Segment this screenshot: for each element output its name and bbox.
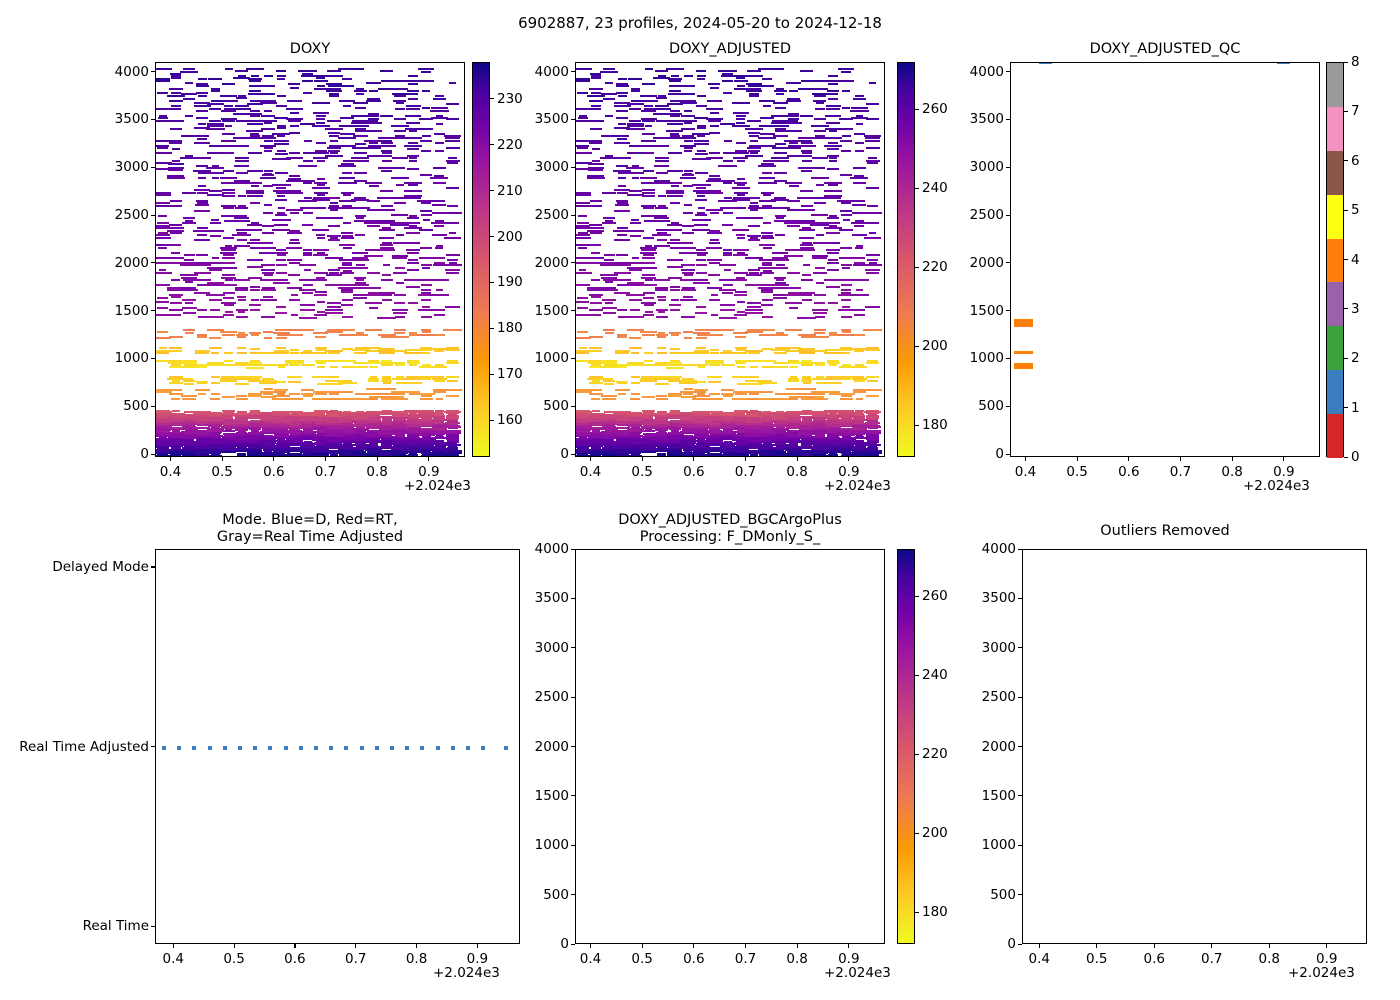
panel-doxy-profile-mark — [355, 107, 366, 109]
panel-doxy-profile-mark — [366, 411, 380, 413]
panel-doxy-profile-mark — [171, 92, 180, 94]
panel-doxy-axes[interactable] — [155, 62, 465, 457]
panel-doxy-profile-mark — [168, 167, 184, 169]
panel-doxy-adjusted-profile-mark — [746, 274, 762, 276]
panel-doxy-adjusted-profile-mark — [575, 152, 592, 154]
panel-doxy-profile-mark — [328, 207, 340, 209]
panel-doxy-profile-mark — [434, 350, 444, 352]
panel-doxy-adjusted-profile-mark — [684, 274, 693, 276]
panel-doxy-profile-mark — [365, 329, 382, 331]
mode-marker — [420, 746, 424, 750]
panel-doxy-adjusted-profile-mark — [733, 157, 748, 159]
panel-doxy-adjusted-axes[interactable] — [575, 62, 885, 457]
panel-doxy-profile-mark — [367, 225, 381, 227]
panel-doxy-adjusted-profile-mark — [658, 332, 665, 334]
panel-doxy-adjusted-profile-mark — [641, 205, 656, 207]
panel-doxy-adjusted-profile-mark — [842, 90, 850, 92]
panel-doxy-profile-mark — [235, 287, 248, 289]
panel-doxy-adjusted-profile-mark — [824, 145, 841, 147]
panel-doxy-adjusted-profile-mark — [601, 360, 616, 362]
panel-doxy-adjusted-profile-mark — [798, 388, 816, 390]
panel-doxy-adjusted-profile-mark — [617, 234, 627, 236]
panel-doxy-adjusted-profile-mark — [617, 138, 627, 140]
panel-doxy-profile-mark — [194, 189, 210, 191]
panel-doxy-adjusted-profile-mark — [747, 302, 760, 304]
panel-doxy-adjusted-profile-mark — [854, 200, 864, 202]
panel-outliers-removed-ytick-label: 2000 — [974, 739, 1016, 755]
panel-doxy-adjusted-profile-mark — [866, 410, 879, 414]
panel-doxy-adjusted-profile-mark — [837, 376, 855, 378]
panel-doxy-adjusted-profile-mark — [615, 352, 629, 354]
panel-doxy-ytick-label: 1500 — [107, 303, 149, 319]
panel-doxy-profile-mark — [353, 267, 367, 269]
panel-doxy-adjusted-profile-mark — [773, 297, 787, 299]
panel-doxy-profile-mark — [197, 411, 208, 413]
panel-doxy-adjusted-profile-mark — [811, 177, 829, 179]
panel-doxy-profile-mark — [325, 312, 343, 314]
panel-doxy-adjusted-profile-mark — [684, 337, 692, 339]
panel-doxy-adjusted-profile-mark — [657, 352, 667, 354]
panel-doxy-adjusted-profile-mark — [681, 316, 695, 318]
panel-doxy-adjusted-profile-mark — [658, 195, 666, 197]
panel-doxy-cbtick-label: 230 — [497, 91, 523, 107]
panel-doxy-profile-mark — [288, 83, 300, 85]
panel-doxy-adjusted-profile-mark — [601, 277, 616, 279]
panel-doxy-adjusted-profile-mark — [641, 302, 656, 304]
panel-doxy-adjusted-profile-mark — [737, 252, 745, 254]
panel-doxy-profile-mark — [313, 254, 328, 256]
panel-doxy-adjusted-profile-mark — [670, 378, 681, 380]
panel-doxy-adjusted-qc-ytick-label: 3500 — [962, 111, 1004, 127]
panel-doxy-profile-mark — [355, 215, 366, 217]
panel-doxy-adjusted-xtick-mark — [848, 457, 849, 461]
panel-doxy-profile-mark — [250, 247, 260, 249]
panel-doxy-adjusted-profile-mark — [575, 194, 591, 196]
panel-doxy-adjusted-ytick-label: 1000 — [527, 350, 569, 366]
panel-doxy-adjusted-profile-mark — [789, 307, 799, 309]
panel-doxy-profile-mark — [221, 215, 236, 217]
panel-doxy-adjusted-profile-mark — [605, 220, 613, 222]
panel-doxy-profile-mark — [249, 304, 262, 306]
panel-doxy-profile-mark — [206, 128, 224, 130]
qc-missing-region — [1304, 62, 1317, 68]
panel-doxy-adjusted-profile-mark — [684, 75, 693, 77]
panel-doxy-profile-mark — [262, 174, 274, 176]
panel-outliers-removed-ytick-mark — [1018, 598, 1022, 599]
qc-colorbar-tick-label: 2 — [1351, 350, 1360, 366]
panel-doxy-adjusted-profile-mark — [604, 254, 615, 256]
panel-doxy-profile-mark — [225, 125, 233, 127]
panel-doxy-adjusted-profile-mark — [640, 252, 657, 254]
qc-flag-4-region — [1014, 351, 1033, 354]
panel-doxy-profile-mark — [330, 209, 339, 211]
panel-doxy-adjusted-profile-mark — [812, 255, 828, 257]
panel-doxy-profile-mark — [264, 110, 272, 112]
panel-doxy-adjusted-profile-mark — [696, 306, 706, 308]
panel-doxy-profile-mark — [381, 155, 392, 157]
panel-doxy-profile-mark — [302, 80, 313, 82]
panel-doxy-profile-mark — [301, 393, 314, 395]
panel-doxy-profile-mark — [378, 388, 396, 390]
panel-doxy-adjusted-profile-mark — [576, 352, 589, 354]
panel-doxy-profile-mark — [328, 352, 339, 354]
panel-doxy-profile-mark — [181, 277, 196, 279]
panel-doxy-profile-mark — [409, 215, 416, 217]
panel-doxy-profile-mark — [432, 378, 448, 380]
panel-doxy-adjusted-profile-mark — [680, 299, 697, 301]
panel-doxy-adjusted-profile-mark — [774, 451, 786, 453]
panel-doxy-adjusted-profile-mark — [724, 269, 732, 271]
panel-doxy-profile-mark — [433, 257, 445, 259]
panel-doxy-adjusted-profile-mark — [816, 382, 824, 384]
panel-doxy-profile-mark — [260, 100, 276, 102]
panel-doxy-adjusted-profile-mark — [692, 219, 711, 221]
panel-doxy-profile-mark — [430, 110, 449, 112]
panel-doxy-profile-mark — [327, 147, 342, 149]
panel-doxy-adjusted-profile-mark — [812, 309, 828, 311]
panel-doxy-adjusted-profile-mark — [667, 259, 684, 261]
panel-doxy-adjusted-profile-mark — [604, 259, 613, 261]
panel-doxy-profile-mark — [223, 433, 235, 435]
panel-doxy-adjusted-profile-mark — [854, 380, 865, 382]
panel-doxy-adjusted-profile-mark — [705, 362, 724, 364]
panel-doxy-xtick-label: 0.5 — [211, 464, 232, 480]
panel-doxy-adjusted-profile-mark — [627, 230, 644, 232]
panel-doxy-adjusted-profile-mark — [642, 430, 655, 432]
panel-doxy-adjusted-colorbar[interactable] — [897, 62, 915, 457]
panel-doxy-adjusted-profile-mark — [707, 376, 722, 378]
panel-doxy-profile-mark — [354, 352, 367, 354]
panel-mode-axes[interactable] — [155, 549, 520, 944]
panel-doxy-profile-mark — [182, 307, 197, 309]
panel-doxy-profile-mark — [303, 152, 313, 154]
panel-doxy-profile-mark — [210, 309, 220, 311]
panel-doxy-profile-mark — [380, 247, 394, 249]
panel-doxy-adjusted-profile-mark — [628, 78, 642, 80]
panel-doxy-profile-mark — [196, 110, 208, 112]
panel-doxy-adjusted-profile-mark — [590, 108, 601, 110]
panel-doxy-profile-mark — [159, 269, 167, 271]
panel-doxy-adjusted-profile-mark — [670, 202, 680, 204]
mode-marker — [238, 746, 242, 750]
panel-doxy-adjusted-profile-mark — [786, 411, 800, 413]
panel-doxy-profile-mark — [183, 98, 195, 100]
panel-doxy-profile-mark — [157, 222, 169, 224]
panel-doxy-profile-mark — [423, 219, 430, 221]
panel-doxy-profile-mark — [325, 331, 343, 333]
panel-doxy-profile-mark — [420, 398, 433, 400]
panel-doxy-profile-mark — [235, 160, 249, 162]
panel-doxy-adjusted-profile-mark — [654, 217, 669, 219]
panel-doxy-profile-mark — [299, 317, 317, 319]
panel-doxy-adjusted-profile-mark — [670, 420, 681, 422]
panel-doxy-profile-mark — [249, 90, 260, 92]
panel-doxy-adjusted-ytick-label: 1500 — [527, 303, 569, 319]
panel-doxy-profile-mark — [221, 249, 236, 251]
panel-doxy-profile-mark — [421, 150, 431, 152]
panel-doxy-profile-mark — [443, 329, 461, 331]
panel-doxy-profile-mark — [155, 234, 170, 236]
panel-doxy-adjusted-profile-mark — [799, 352, 815, 354]
panel-doxy-adjusted-profile-mark — [710, 349, 719, 351]
panel-doxy-profile-mark — [238, 95, 246, 97]
panel-doxy-profile-mark — [328, 225, 341, 227]
panel-doxy-profile-mark — [434, 262, 445, 264]
panel-doxy-colorbar[interactable] — [472, 62, 490, 457]
panel-doxy-adjusted-profile-mark — [696, 249, 706, 251]
panel-doxy-profile-mark — [406, 108, 419, 110]
panel-doxy-adjusted-profile-mark — [737, 160, 745, 162]
panel-doxy-adjusted-profile-mark — [721, 364, 735, 366]
panel-doxy-profile-mark — [184, 254, 195, 256]
panel-outliers-removed-xtick-mark — [1039, 944, 1040, 948]
panel-doxy-profile-mark — [185, 302, 193, 304]
panel-doxy-adjusted-profile-mark — [722, 80, 733, 82]
panel-doxy-profile-mark — [291, 294, 298, 296]
panel-outliers-removed-ytick-mark — [1018, 944, 1022, 945]
panel-doxy-adjusted-profile-mark — [671, 299, 679, 301]
panel-doxy-profile-mark — [170, 302, 183, 304]
panel-doxy-adjusted-profile-mark — [656, 309, 668, 311]
panel-doxy-adjusted-profile-mark — [789, 443, 797, 447]
panel-doxy-profile-mark — [339, 329, 355, 331]
panel-doxy-adjusted-profile-mark — [617, 336, 627, 338]
panel-doxy-adjusted-profile-mark — [642, 133, 656, 135]
panel-doxy-profile-mark — [194, 272, 211, 274]
panel-doxy-adjusted-qc-xtick-mark — [1025, 457, 1026, 461]
panel-doxy-adjusted-qc-colorbar[interactable] — [1326, 62, 1344, 457]
panel-doxy-adjusted-profile-mark — [773, 102, 788, 104]
panel-bgcargoplus-colorbar[interactable] — [897, 549, 915, 944]
panel-doxy-profile-mark — [327, 235, 342, 237]
panel-doxy-profile-mark — [432, 204, 446, 206]
panel-bgcargoplus-ytick-mark — [571, 944, 575, 945]
panel-doxy-adjusted-profile-mark — [643, 207, 654, 209]
panel-doxy-profile-mark — [393, 242, 407, 244]
panel-doxy-ytick-label: 2500 — [107, 207, 149, 223]
panel-doxy-ytick-label: 2000 — [107, 255, 149, 271]
panel-doxy-adjusted-profile-mark — [718, 70, 736, 72]
panel-doxy-adjusted-profile-mark — [736, 115, 746, 117]
panel-doxy-profile-mark — [447, 162, 457, 164]
panel-doxy-adjusted-profile-mark — [696, 381, 706, 383]
panel-doxy-adjusted-profile-mark — [838, 80, 854, 82]
panel-doxy-profile-mark — [194, 142, 210, 144]
panel-doxy-profile-mark — [394, 302, 405, 304]
panel-doxy-adjusted-profile-mark — [614, 292, 630, 294]
panel-outliers-removed-ytick-mark — [1018, 894, 1022, 895]
panel-doxy-adjusted-profile-mark — [813, 222, 827, 224]
panel-doxy-adjusted-profile-mark — [867, 205, 877, 207]
panel-doxy-profile-mark — [169, 347, 182, 349]
panel-doxy-adjusted-profile-mark — [787, 98, 800, 100]
panel-doxy-profile-mark — [330, 202, 338, 204]
panel-doxy-profile-mark — [234, 245, 250, 247]
panel-doxy-profile-mark — [351, 157, 369, 159]
panel-doxy-profile-mark — [274, 350, 289, 352]
panel-doxy-profile-mark — [368, 360, 379, 362]
panel-doxy-profile-mark — [222, 430, 235, 432]
panel-doxy-adjusted-profile-mark — [613, 279, 631, 281]
panel-doxy-profile-mark — [365, 302, 383, 304]
panel-bgcargoplus-xtick-label: 0.7 — [735, 951, 756, 967]
panel-doxy-adjusted-profile-mark — [841, 395, 852, 397]
panel-doxy-cbtick-mark — [490, 236, 494, 237]
panel-doxy-adjusted-profile-mark — [735, 352, 747, 354]
panel-doxy-xtick-mark — [170, 457, 171, 461]
panel-doxy-adjusted-profile-mark — [826, 286, 840, 288]
panel-doxy-profile-mark — [250, 348, 259, 350]
panel-doxy-profile-mark — [369, 185, 379, 187]
panel-doxy-profile-mark — [408, 98, 418, 100]
panel-doxy-profile-mark — [168, 120, 185, 122]
panel-doxy-adjusted-profile-mark — [746, 90, 761, 92]
panel-doxy-profile-mark — [330, 410, 338, 412]
panel-outliers-removed-ytick-label: 3000 — [974, 640, 1016, 656]
panel-doxy-adjusted-profile-mark — [837, 334, 855, 336]
panel-doxy-adjusted-profile-mark — [829, 160, 838, 162]
panel-doxy-adjusted-profile-mark — [824, 227, 841, 229]
panel-doxy-profile-mark — [194, 105, 211, 107]
panel-doxy-profile-mark — [353, 362, 367, 364]
panel-doxy-adjusted-profile-mark — [838, 68, 854, 70]
panel-doxy-adjusted-profile-mark — [837, 393, 855, 395]
panel-mode-ytick-mark — [151, 926, 155, 927]
panel-doxy-profile-mark — [313, 112, 329, 114]
panel-doxy-profile-mark — [155, 152, 172, 154]
panel-doxy-adjusted-profile-mark — [683, 331, 692, 333]
panel-doxy-profile-mark — [251, 222, 259, 224]
panel-doxy-adjusted-profile-mark — [589, 142, 602, 144]
panel-doxy-adjusted-profile-mark — [772, 398, 789, 400]
panel-doxy-ytick-mark — [151, 71, 155, 72]
panel-doxy-adjusted-profile-mark — [827, 217, 839, 219]
panel-doxy-adjusted-profile-mark — [656, 97, 667, 99]
panel-doxy-adjusted-ytick-mark — [571, 167, 575, 168]
panel-doxy-adjusted-qc-ytick-mark — [1006, 358, 1010, 359]
panel-doxy-profile-mark — [211, 219, 219, 221]
panel-doxy-profile-mark — [314, 410, 328, 412]
panel-doxy-profile-mark — [260, 145, 277, 147]
panel-doxy-adjusted-profile-mark — [656, 395, 667, 397]
panel-doxy-adjusted-profile-mark — [762, 366, 772, 368]
panel-doxy-adjusted-profile-mark — [854, 133, 865, 135]
panel-doxy-adjusted-profile-mark — [697, 127, 706, 129]
panel-doxy-profile-mark — [262, 272, 274, 274]
panel-doxy-profile-mark — [272, 219, 291, 221]
panel-doxy-profile-mark — [316, 234, 325, 236]
panel-doxy-profile-mark — [263, 296, 273, 298]
panel-doxy-profile-mark — [209, 299, 223, 301]
panel-doxy-adjusted-profile-mark — [670, 239, 679, 241]
panel-doxy-adjusted-profile-mark — [868, 157, 878, 159]
panel-doxy-cbtick-mark — [490, 328, 494, 329]
panel-doxy-profile-mark — [435, 247, 443, 249]
panel-doxy-profile-mark — [326, 274, 342, 276]
panel-doxy-adjusted-profile-mark — [747, 88, 761, 90]
panel-doxy-adjusted-qc-ytick-mark — [1006, 310, 1010, 311]
panel-doxy-adjusted-ytick-mark — [571, 358, 575, 359]
panel-doxy-profile-mark — [195, 352, 209, 354]
panel-doxy-adjusted-profile-mark — [824, 195, 841, 197]
panel-doxy-profile-mark — [303, 212, 313, 214]
panel-doxy-adjusted-profile-mark — [826, 222, 839, 224]
panel-doxy-adjusted-profile-mark — [642, 189, 654, 191]
panel-doxy-adjusted-profile-mark — [680, 177, 696, 179]
panel-doxy-profile-mark — [328, 269, 339, 271]
panel-doxy-adjusted-profile-mark — [628, 262, 642, 264]
panel-doxy-profile-mark — [236, 419, 248, 421]
panel-doxy-profile-mark — [264, 147, 273, 149]
panel-doxy-ytick-label: 3000 — [107, 159, 149, 175]
panel-doxy-profile-mark — [343, 105, 351, 107]
panel-doxy-adjusted-profile-mark — [588, 163, 604, 165]
panel-doxy-profile-mark — [156, 225, 170, 227]
panel-doxy-adjusted-profile-mark — [724, 140, 732, 142]
panel-doxy-adjusted-profile-mark — [639, 100, 658, 102]
panel-doxy-adjusted-profile-mark — [816, 234, 823, 236]
panel-doxy-adjusted-profile-mark — [643, 314, 655, 316]
panel-doxy-adjusted-profile-mark — [591, 77, 601, 79]
panel-doxy-adjusted-profile-mark — [679, 380, 697, 382]
panel-doxy-adjusted-profile-mark — [656, 316, 668, 318]
panel-doxy-adjusted-profile-mark — [841, 329, 851, 331]
panel-doxy-adjusted-profile-mark — [591, 296, 602, 298]
panel-doxy-profile-mark — [421, 214, 432, 216]
panel-doxy-profile-mark — [185, 220, 193, 222]
panel-doxy-adjusted-profile-mark — [680, 247, 696, 249]
panel-doxy-adjusted-profile-mark — [694, 364, 708, 366]
panel-doxy-adjusted-profile-mark — [618, 316, 626, 318]
panel-bgcargoplus-cbtick-label: 200 — [922, 825, 948, 841]
panel-outliers-removed-axes[interactable] — [1022, 549, 1367, 944]
panel-doxy-profile-mark — [195, 262, 210, 264]
panel-doxy-profile-mark — [273, 332, 290, 334]
panel-doxy-profile-mark — [408, 142, 417, 144]
panel-doxy-adjusted-profile-mark — [841, 150, 851, 152]
panel-doxy-profile-mark — [237, 336, 246, 338]
panel-doxy-adjusted-profile-mark — [708, 411, 720, 413]
panel-doxy-adjusted-profile-mark — [604, 383, 614, 385]
panel-doxy-adjusted-profile-mark — [825, 115, 841, 117]
panel-doxy-adjusted-profile-mark — [745, 312, 763, 314]
panel-doxy-adjusted-qc-ytick-label: 3000 — [962, 159, 1004, 175]
panel-doxy-profile-mark — [304, 441, 312, 443]
panel-doxy-adjusted-profile-mark — [627, 103, 643, 105]
panel-doxy-adjusted-profile-mark — [772, 259, 789, 261]
panel-doxy-profile-mark — [259, 380, 277, 382]
panel-doxy-profile-mark — [300, 309, 315, 311]
panel-bgcargoplus-axes[interactable] — [575, 549, 885, 944]
panel-doxy-profile-mark — [303, 252, 311, 254]
panel-doxy-profile-mark — [264, 274, 273, 276]
panel-doxy-adjusted-profile-mark — [618, 185, 626, 187]
panel-doxy-profile-mark — [378, 292, 395, 294]
panel-doxy-profile-mark — [157, 147, 168, 149]
panel-doxy-profile-mark — [222, 120, 234, 122]
panel-doxy-adjusted-profile-mark — [816, 102, 824, 104]
panel-doxy-profile-mark — [289, 393, 300, 395]
panel-doxy-adjusted-profile-mark — [737, 383, 745, 385]
panel-doxy-adjusted-profile-mark — [840, 347, 852, 349]
panel-doxy-adjusted-qc-ytick-label: 1000 — [962, 350, 1004, 366]
panel-doxy-profile-mark — [449, 232, 457, 234]
panel-doxy-profile-mark — [303, 284, 313, 286]
panel-doxy-profile-mark — [447, 420, 458, 422]
panel-doxy-adjusted-profile-mark — [745, 75, 763, 77]
panel-doxy-profile-mark — [356, 411, 364, 413]
panel-doxy-adjusted-qc-axes[interactable] — [1010, 62, 1320, 457]
